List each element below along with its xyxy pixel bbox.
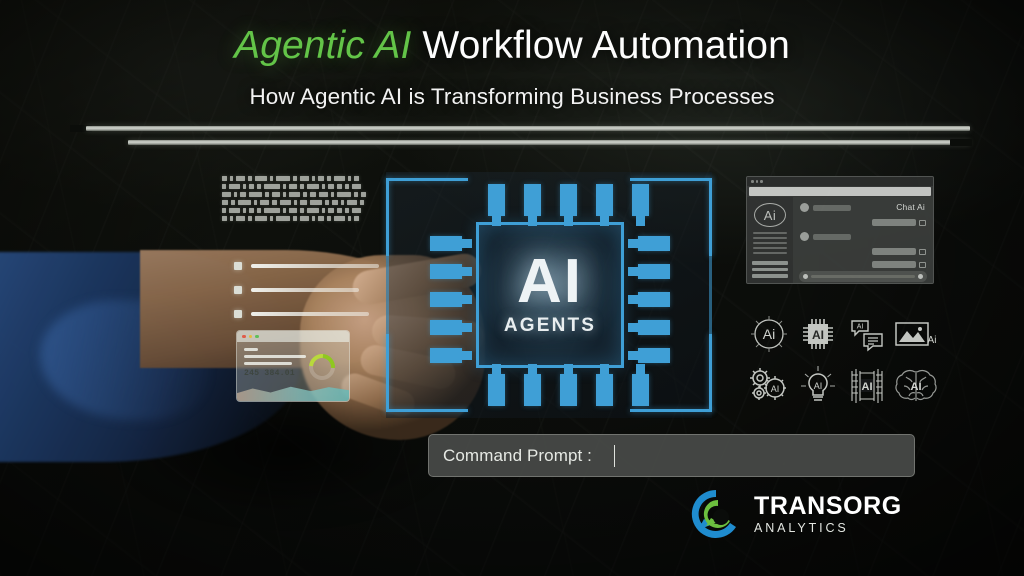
card-text-line — [244, 362, 292, 365]
transorg-logo-mark — [688, 486, 744, 542]
message-action-icon[interactable] — [919, 220, 926, 226]
ai-chip-icon[interactable]: AI — [793, 308, 842, 360]
text-cursor — [614, 445, 616, 467]
binary-code-bit — [325, 200, 329, 205]
binary-code-bit — [327, 176, 331, 181]
dashboard-card-titlebar — [237, 331, 349, 342]
chip-pin-right — [638, 236, 670, 251]
binary-code-bit — [264, 208, 280, 213]
chat-sidebar: Ai — [747, 197, 793, 284]
binary-code-bit — [352, 184, 361, 189]
ai-chip-core: AI AGENTS — [476, 222, 624, 368]
binary-code-bit — [234, 192, 237, 197]
binary-code-bit — [222, 208, 226, 213]
chat-message-incoming — [800, 232, 926, 241]
message-bubble — [872, 248, 916, 255]
command-prompt-bar[interactable]: Command Prompt : — [428, 434, 915, 477]
binary-code-bit — [354, 216, 359, 221]
chip-pin-left — [430, 264, 462, 279]
chip-pin-bottom — [488, 374, 505, 406]
binary-code-bit — [328, 208, 334, 213]
chip-pin-bottom — [632, 374, 649, 406]
binary-code-bit — [307, 184, 319, 189]
binary-code-bit — [229, 208, 240, 213]
chat-input-field[interactable] — [811, 275, 915, 278]
window-dot-close-icon — [751, 180, 754, 183]
binary-code-bit — [230, 176, 233, 181]
binary-code-bit — [265, 192, 269, 197]
dashboard-card-overlay[interactable]: 245 384.01 — [236, 330, 350, 402]
corner-bracket-br-v — [709, 334, 712, 412]
ai-circuit-icon[interactable]: AI — [842, 360, 891, 412]
corner-bracket-tl-v — [386, 178, 389, 256]
binary-code-bit — [289, 208, 297, 213]
chat-window-mockup[interactable]: Ai Chat Ai — [746, 176, 934, 284]
page-title-accent: Agentic AI — [234, 24, 411, 67]
binary-code-bit — [334, 216, 345, 221]
list-item — [234, 286, 379, 294]
card-text-line — [244, 348, 258, 351]
binary-code-bit — [310, 200, 322, 205]
binary-code-bit — [300, 216, 309, 221]
dashboard-card-body: 245 384.01 — [237, 342, 349, 402]
attach-icon[interactable] — [803, 274, 808, 279]
binary-code-bit — [270, 176, 273, 181]
binary-code-row — [222, 216, 387, 221]
ai-circle-icon[interactable]: Ai — [744, 308, 793, 360]
binary-code-bit — [334, 176, 345, 181]
svg-text:AI: AI — [812, 328, 824, 342]
binary-code-bit — [231, 200, 235, 205]
ai-icon-grid: Ai AI AI Ai — [744, 308, 940, 412]
gauge-arc-icon — [304, 349, 341, 386]
sidebar-item[interactable] — [753, 247, 787, 249]
chip-pin-right — [638, 292, 670, 307]
svg-text:AI: AI — [861, 381, 872, 393]
binary-code-row — [222, 184, 387, 189]
binary-code-bit — [332, 200, 338, 205]
chip-pin-right — [638, 320, 670, 335]
command-prompt-label: Command Prompt : — [443, 446, 592, 466]
binary-code-bit — [255, 176, 267, 181]
window-dot-minimize-icon — [756, 180, 759, 183]
binary-code-row — [222, 176, 387, 181]
chat-message-outgoing — [800, 261, 926, 268]
binary-code-bit — [327, 216, 331, 221]
binary-code-bit — [230, 216, 233, 221]
chat-ai-logo: Ai — [754, 203, 786, 227]
binary-code-row — [222, 208, 387, 213]
bullet-line — [251, 264, 379, 268]
binary-code-bit — [361, 192, 366, 197]
binary-code-bit — [348, 176, 351, 181]
binary-code-bit — [360, 200, 364, 205]
binary-code-bit — [276, 216, 290, 221]
message-bubble — [813, 234, 851, 240]
binary-code-bit — [289, 184, 297, 189]
page-subtitle: How Agentic AI is Transforming Business … — [0, 84, 1024, 110]
message-bubble — [813, 205, 851, 211]
binary-code-bit — [337, 184, 342, 189]
chip-pin-top — [632, 184, 649, 216]
chat-window-titlebar — [747, 177, 933, 186]
brand-text-block: TRANSORG ANALYTICS — [754, 494, 902, 535]
chip-pin-top — [524, 184, 541, 216]
avatar — [800, 232, 809, 241]
binary-code-bit — [222, 216, 227, 221]
binary-code-bit — [293, 176, 297, 181]
sidebar-button[interactable] — [752, 268, 788, 272]
ai-chip-graphic: AI AGENTS — [430, 184, 670, 406]
bullet-square-icon — [234, 310, 242, 318]
binary-code-bit — [310, 192, 316, 197]
binary-code-bit — [300, 200, 307, 205]
window-dot-maximize-icon — [760, 180, 763, 183]
binary-code-bit — [283, 192, 286, 197]
binary-code-bit — [300, 184, 304, 189]
binary-code-bit — [322, 184, 325, 189]
corner-bracket-bl-v — [386, 334, 389, 412]
binary-code-bit — [249, 184, 254, 189]
brand-subtitle: ANALYTICS — [754, 522, 902, 535]
ai-lightbulb-icon[interactable]: AI — [793, 360, 842, 412]
binary-code-row — [222, 192, 387, 197]
window-dot-close-icon — [242, 335, 246, 339]
binary-code-bit — [264, 184, 280, 189]
bullet-line — [251, 288, 359, 292]
bullet-line — [251, 312, 369, 316]
brand-logo: TRANSORG ANALYTICS — [688, 486, 902, 542]
binary-code-bit — [318, 216, 324, 221]
binary-code-bit — [249, 192, 262, 197]
brand-name: TRANSORG — [754, 494, 902, 519]
chip-pin-left — [430, 320, 462, 335]
binary-code-bit — [222, 176, 227, 181]
ai-chip-label-sub: AGENTS — [504, 315, 596, 337]
sidebar-item[interactable] — [753, 237, 787, 239]
message-action-icon[interactable] — [919, 249, 926, 255]
svg-text:Ai: Ai — [762, 326, 774, 342]
binary-code-overlay — [222, 176, 387, 228]
binary-code-bit — [280, 200, 291, 205]
binary-code-bit — [293, 216, 297, 221]
svg-text:AI: AI — [813, 381, 822, 391]
corner-bracket-tr-v — [709, 178, 712, 256]
chat-message-outgoing — [800, 219, 926, 226]
corner-bracket-tl-h — [386, 178, 468, 181]
binary-code-bit — [345, 208, 349, 213]
bullet-square-icon — [234, 286, 242, 294]
binary-code-bit — [270, 216, 273, 221]
binary-code-bit — [289, 192, 300, 197]
message-action-icon[interactable] — [919, 262, 926, 268]
binary-code-bit — [276, 176, 290, 181]
page-title: Agentic AI Workflow Automation — [0, 24, 1024, 68]
chat-input-bar[interactable] — [799, 271, 927, 282]
svg-text:AI: AI — [770, 384, 779, 394]
chip-pin-top — [488, 184, 505, 216]
bullet-list-overlay — [234, 262, 379, 334]
binary-code-row — [222, 200, 387, 205]
binary-code-bit — [254, 200, 257, 205]
binary-code-bit — [322, 208, 325, 213]
chip-pin-left — [430, 292, 462, 307]
ai-gears-icon[interactable]: AI — [744, 360, 793, 412]
binary-code-bit — [300, 208, 304, 213]
list-item — [234, 310, 379, 318]
binary-code-bit — [341, 200, 344, 205]
ai-image-icon[interactable]: Ai — [891, 308, 940, 360]
message-bubble — [872, 261, 916, 268]
svg-text:AI: AI — [856, 324, 863, 331]
corner-bracket-bl-h — [386, 409, 468, 412]
binary-code-bit — [248, 176, 252, 181]
binary-code-bit — [294, 200, 297, 205]
ai-chat-bubbles-icon[interactable]: AI — [842, 308, 891, 360]
avatar — [800, 203, 809, 212]
divider-line-bottom — [128, 140, 970, 145]
chip-pin-left — [430, 348, 462, 363]
page-title-rest: Workflow Automation — [411, 24, 789, 67]
binary-code-bit — [331, 192, 334, 197]
binary-code-bit — [240, 192, 246, 197]
binary-code-bit — [222, 200, 228, 205]
binary-code-bit — [352, 208, 361, 213]
binary-code-bit — [307, 208, 319, 213]
binary-code-bit — [337, 208, 342, 213]
ai-chip-label-main: AI — [517, 253, 583, 310]
binary-code-bit — [236, 216, 245, 221]
chat-main-panel: Chat Ai — [793, 197, 933, 284]
binary-code-bit — [257, 184, 261, 189]
window-dot-maximize-icon — [255, 335, 259, 339]
binary-code-bit — [312, 176, 315, 181]
binary-code-bit — [354, 192, 358, 197]
binary-code-bit — [318, 176, 324, 181]
chat-message-outgoing — [800, 248, 926, 255]
binary-code-bit — [236, 176, 245, 181]
binary-code-bit — [260, 200, 269, 205]
bullet-square-icon — [234, 262, 242, 270]
binary-code-bit — [337, 192, 351, 197]
binary-code-bit — [348, 216, 351, 221]
binary-code-bit — [248, 216, 252, 221]
chip-pin-right — [638, 264, 670, 279]
sidebar-item[interactable] — [753, 252, 787, 254]
chat-address-bar[interactable] — [749, 187, 931, 196]
binary-code-bit — [222, 192, 231, 197]
chat-panel-title: Chat Ai — [896, 202, 925, 212]
list-item — [234, 262, 379, 270]
card-text-line — [244, 355, 306, 358]
divider-line-top — [86, 126, 970, 131]
binary-code-bit — [319, 192, 328, 197]
chip-pin-bottom — [560, 374, 577, 406]
svg-text:Ai: Ai — [927, 335, 936, 346]
window-dot-minimize-icon — [249, 335, 253, 339]
chip-pin-right — [638, 348, 670, 363]
binary-code-bit — [238, 200, 251, 205]
binary-code-bit — [354, 176, 359, 181]
binary-code-bit — [347, 200, 357, 205]
sidebar-item[interactable] — [753, 242, 787, 244]
ai-brain-icon[interactable]: AI — [891, 360, 940, 412]
binary-code-bit — [222, 184, 226, 189]
corner-bracket-br-h — [630, 409, 712, 412]
chip-pin-top — [596, 184, 613, 216]
binary-code-bit — [249, 208, 254, 213]
binary-code-bit — [257, 208, 261, 213]
chip-pin-bottom — [524, 374, 541, 406]
binary-code-bit — [283, 184, 286, 189]
divider-bottom-cap — [950, 139, 972, 146]
binary-code-bit — [303, 192, 307, 197]
binary-code-bit — [229, 184, 240, 189]
binary-code-bit — [345, 184, 349, 189]
binary-code-bit — [272, 200, 277, 205]
binary-code-bit — [283, 208, 286, 213]
send-icon[interactable] — [918, 274, 923, 279]
sidebar-button[interactable] — [752, 261, 788, 265]
card-chart-wave — [237, 381, 349, 402]
chip-pin-left — [430, 236, 462, 251]
binary-code-bit — [328, 184, 334, 189]
chip-pin-bottom — [596, 374, 613, 406]
binary-code-bit — [272, 192, 280, 197]
binary-code-bit — [243, 184, 246, 189]
sidebar-button[interactable] — [752, 274, 788, 278]
message-bubble — [872, 219, 916, 226]
sidebar-item[interactable] — [753, 232, 787, 234]
binary-code-bit — [300, 176, 309, 181]
corner-bracket-tr-h — [630, 178, 712, 181]
binary-code-bit — [312, 216, 315, 221]
binary-code-bit — [243, 208, 246, 213]
binary-code-bit — [255, 216, 267, 221]
ai-chip-panel: AI AGENTS — [386, 172, 712, 418]
svg-text:AI: AI — [910, 381, 921, 393]
chip-pin-top — [560, 184, 577, 216]
chat-window-body: Ai Chat Ai — [747, 197, 933, 284]
